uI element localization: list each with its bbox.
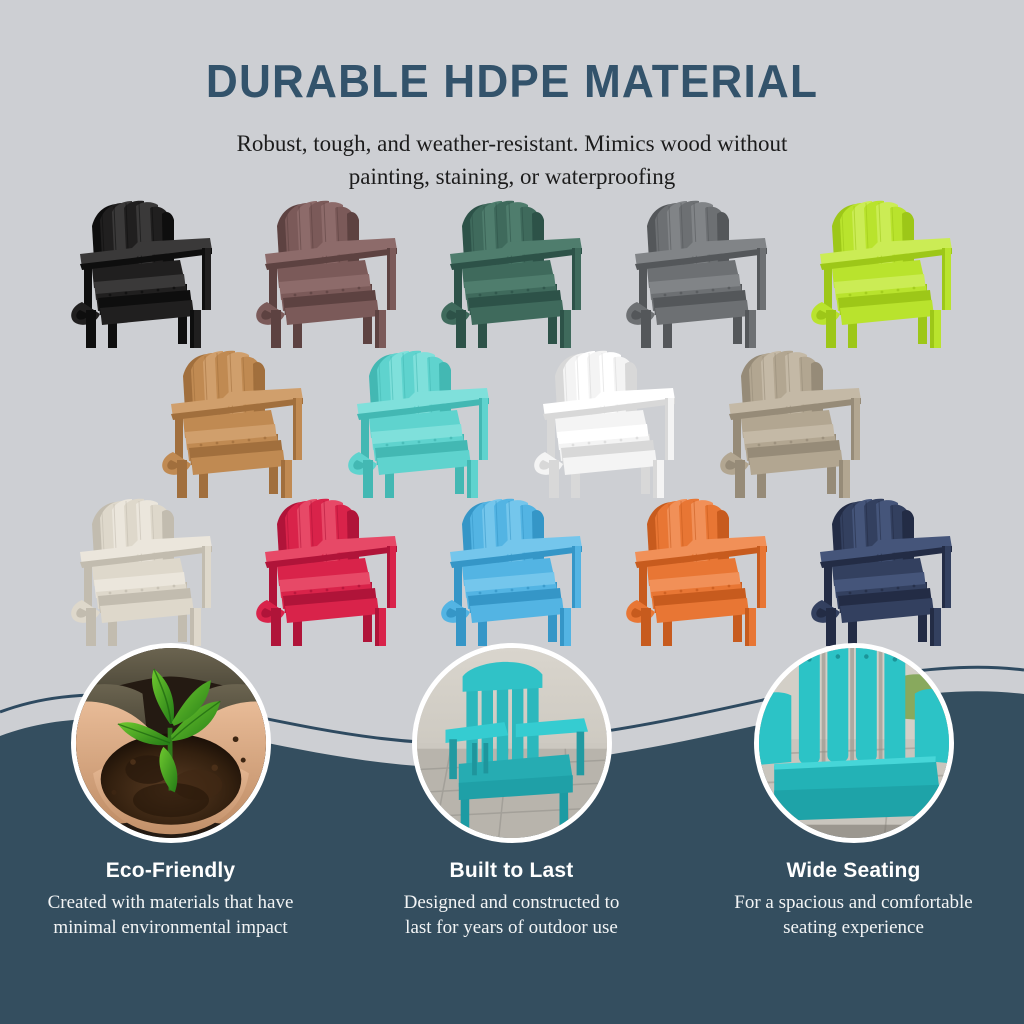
adirondack-chair-dark-green — [432, 198, 592, 348]
chair-swatch-light-blue — [420, 494, 605, 646]
feature-image-chair-on-patio — [412, 643, 612, 843]
chair-swatch-orange — [605, 494, 790, 646]
header-section: DURABLE HDPE MATERIAL Robust, tough, and… — [0, 0, 1024, 193]
chair-color-grid — [0, 196, 1024, 656]
feature-description: Created with materials that have minimal… — [13, 890, 329, 941]
subtitle-line-2: painting, staining, or waterproofing — [349, 164, 675, 189]
feature-title: Built to Last — [341, 859, 682, 883]
feature-eco-friendly: Eco-Friendly Created with materials that… — [0, 640, 341, 941]
adirondack-chair-red — [247, 496, 407, 646]
adirondack-chair-orange — [617, 496, 777, 646]
adirondack-chair-cedar-tan — [153, 348, 313, 498]
turquoise-chair-seat-icon — [759, 648, 949, 838]
chair-swatch-gray — [605, 196, 790, 348]
adirondack-chair-weathered-wood — [711, 348, 871, 498]
feature-desc-line-2: seating experience — [783, 917, 924, 938]
page-subtitle: Robust, tough, and weather-resistant. Mi… — [0, 108, 1024, 193]
adirondack-chair-gray — [617, 198, 777, 348]
feature-callouts: Eco-Friendly Created with materials that… — [0, 640, 1024, 1024]
chair-swatch-black — [50, 196, 235, 348]
feature-image-hands-seedling — [71, 643, 271, 843]
adirondack-chair-brown — [247, 198, 407, 348]
feature-wide-seating: Wide Seating For a spacious and comforta… — [683, 640, 1024, 941]
chair-row-3 — [0, 494, 1024, 646]
adirondack-chair-white — [525, 348, 685, 498]
feature-image-chair-seat-closeup — [754, 643, 954, 843]
adirondack-chair-ivory — [62, 496, 222, 646]
chair-swatch-navy — [790, 494, 975, 646]
adirondack-chair-turquoise — [339, 348, 499, 498]
infographic-page: DURABLE HDPE MATERIAL Robust, tough, and… — [0, 0, 1024, 1024]
page-title: DURABLE HDPE MATERIAL — [20, 0, 1003, 108]
feature-desc-line-1: Designed and constructed to — [404, 892, 620, 913]
subtitle-line-1: Robust, tough, and weather-resistant. Mi… — [237, 131, 788, 156]
hands-holding-seedling-icon — [76, 648, 266, 838]
feature-description: Designed and constructed to last for yea… — [354, 890, 670, 941]
chair-swatch-brown — [235, 196, 420, 348]
chair-swatch-turquoise — [326, 346, 512, 498]
feature-title: Eco-Friendly — [0, 859, 341, 883]
feature-desc-line-2: last for years of outdoor use — [405, 917, 618, 938]
chair-swatch-weathered-wood — [698, 346, 884, 498]
chair-row-2 — [0, 346, 1024, 498]
feature-description: For a spacious and comfortable seating e… — [696, 890, 1012, 941]
chair-swatch-dark-green — [420, 196, 605, 348]
chair-swatch-lime-green — [790, 196, 975, 348]
adirondack-chair-light-blue — [432, 496, 592, 646]
feature-built-to-last: Built to Last Designed and constructed t… — [341, 640, 682, 941]
turquoise-chair-patio-icon — [417, 648, 607, 838]
chair-row-1 — [0, 196, 1024, 348]
adirondack-chair-navy — [802, 496, 962, 646]
adirondack-chair-lime-green — [802, 198, 962, 348]
chair-swatch-white — [512, 346, 698, 498]
adirondack-chair-black — [62, 198, 222, 348]
feature-title: Wide Seating — [683, 859, 1024, 883]
chair-swatch-red — [235, 494, 420, 646]
chair-swatch-cedar-tan — [140, 346, 326, 498]
chair-swatch-ivory — [50, 494, 235, 646]
feature-desc-line-1: For a spacious and comfortable — [734, 892, 972, 913]
feature-desc-line-2: minimal environmental impact — [53, 917, 287, 938]
feature-desc-line-1: Created with materials that have — [48, 892, 294, 913]
